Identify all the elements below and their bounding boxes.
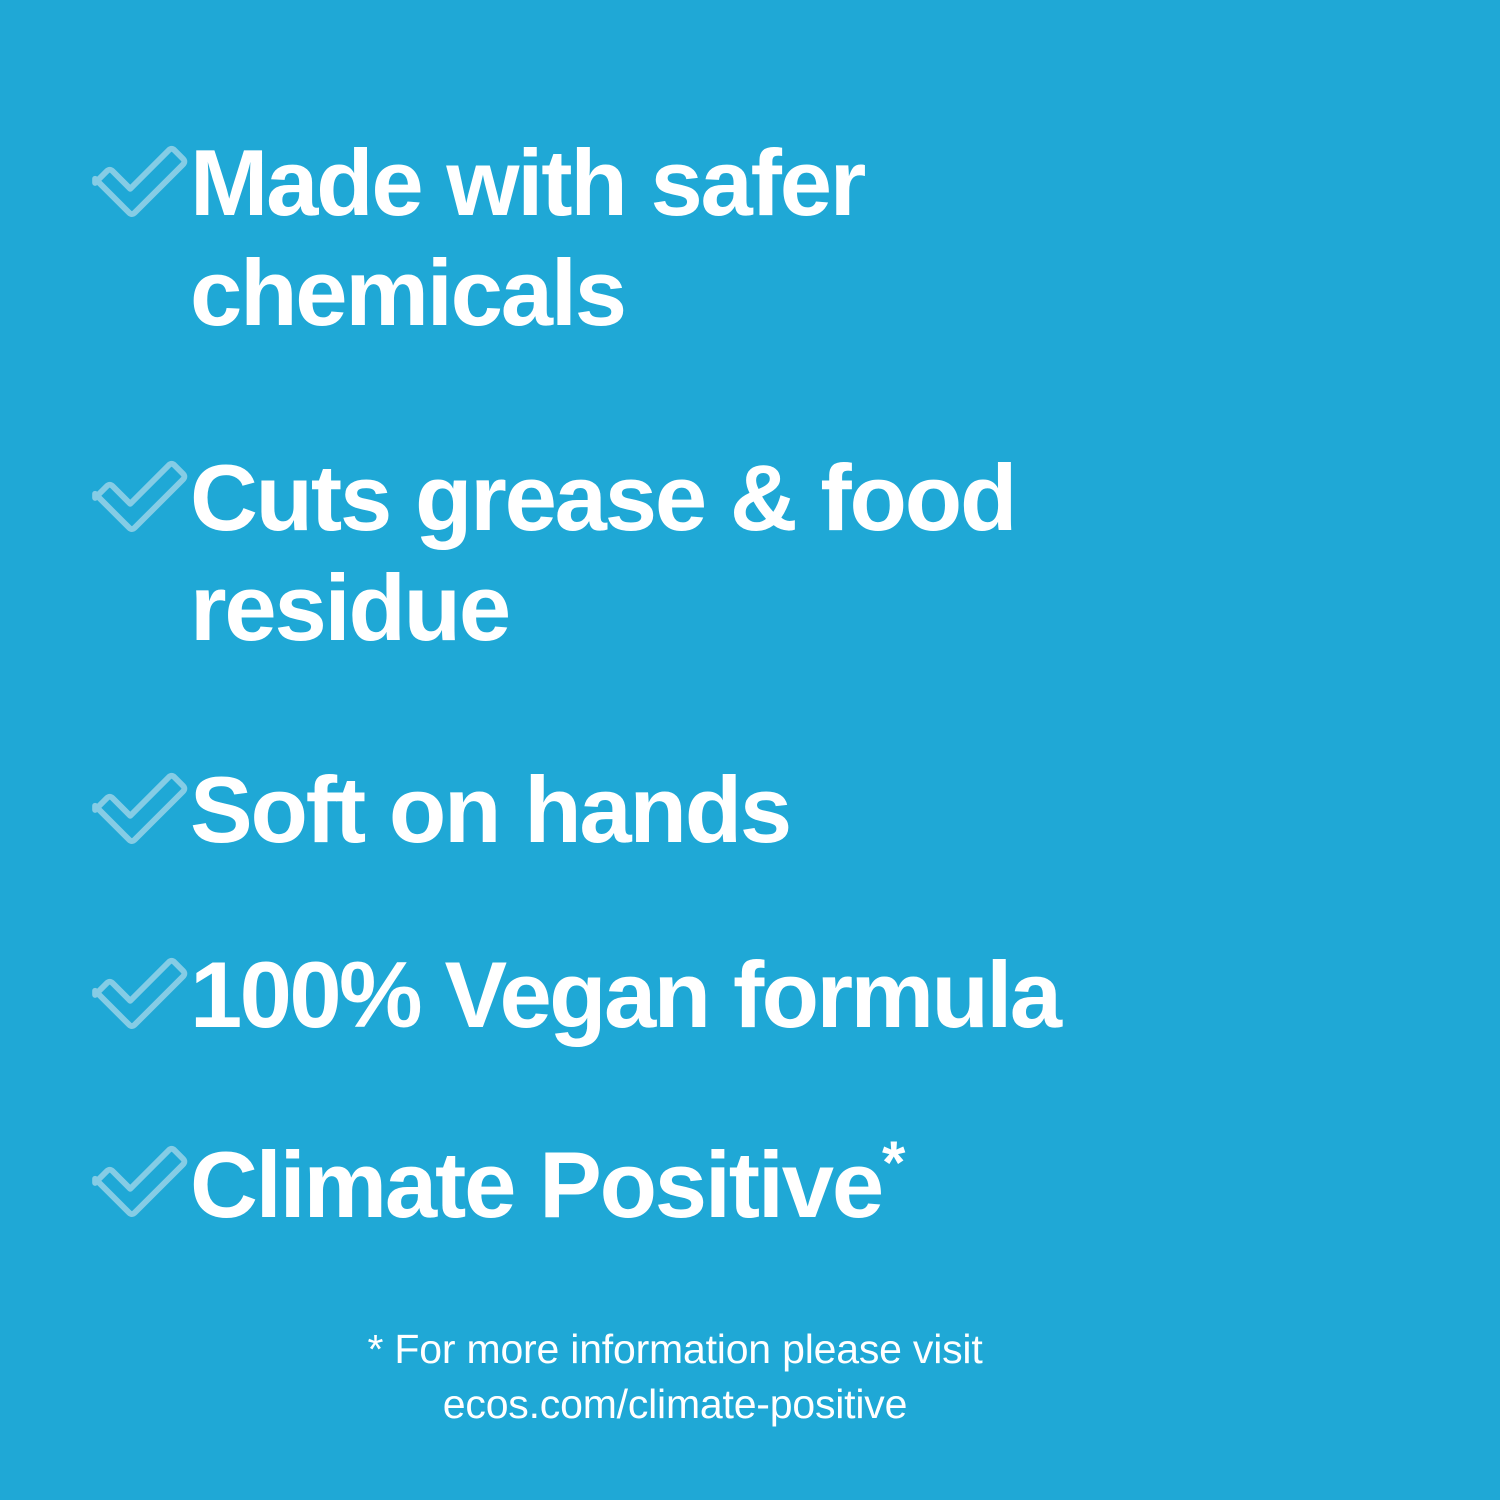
benefit-item: Cuts grease & food residue	[0, 443, 1315, 663]
footnote: * For more information please visit ecos…	[230, 1322, 1120, 1432]
benefit-label: Cuts grease & food residue	[190, 443, 1315, 663]
benefit-item: Soft on hands	[0, 755, 790, 865]
benefit-label-main: Climate Positive	[190, 1132, 882, 1237]
benefit-label: Climate Positive*	[190, 1128, 905, 1240]
check-outline-icon	[0, 940, 190, 1044]
check-outline-icon	[0, 128, 190, 232]
benefit-label: Made with safer chemicals	[190, 128, 1150, 348]
benefit-item: Made with safer chemicals	[0, 128, 1150, 348]
benefit-label: Soft on hands	[190, 755, 790, 865]
footnote-marker-icon: *	[882, 1129, 905, 1196]
check-outline-icon	[0, 755, 190, 859]
benefits-panel: Made with safer chemicals Cuts grease & …	[0, 0, 1500, 1500]
benefit-item: Climate Positive*	[0, 1128, 905, 1240]
check-outline-icon	[0, 1128, 190, 1232]
benefit-item: 100% Vegan formula	[0, 940, 1059, 1050]
footnote-line-1: * For more information please visit	[230, 1322, 1120, 1377]
footnote-line-2: ecos.com/climate-positive	[230, 1377, 1120, 1432]
benefit-label: 100% Vegan formula	[190, 940, 1059, 1050]
check-outline-icon	[0, 443, 190, 547]
